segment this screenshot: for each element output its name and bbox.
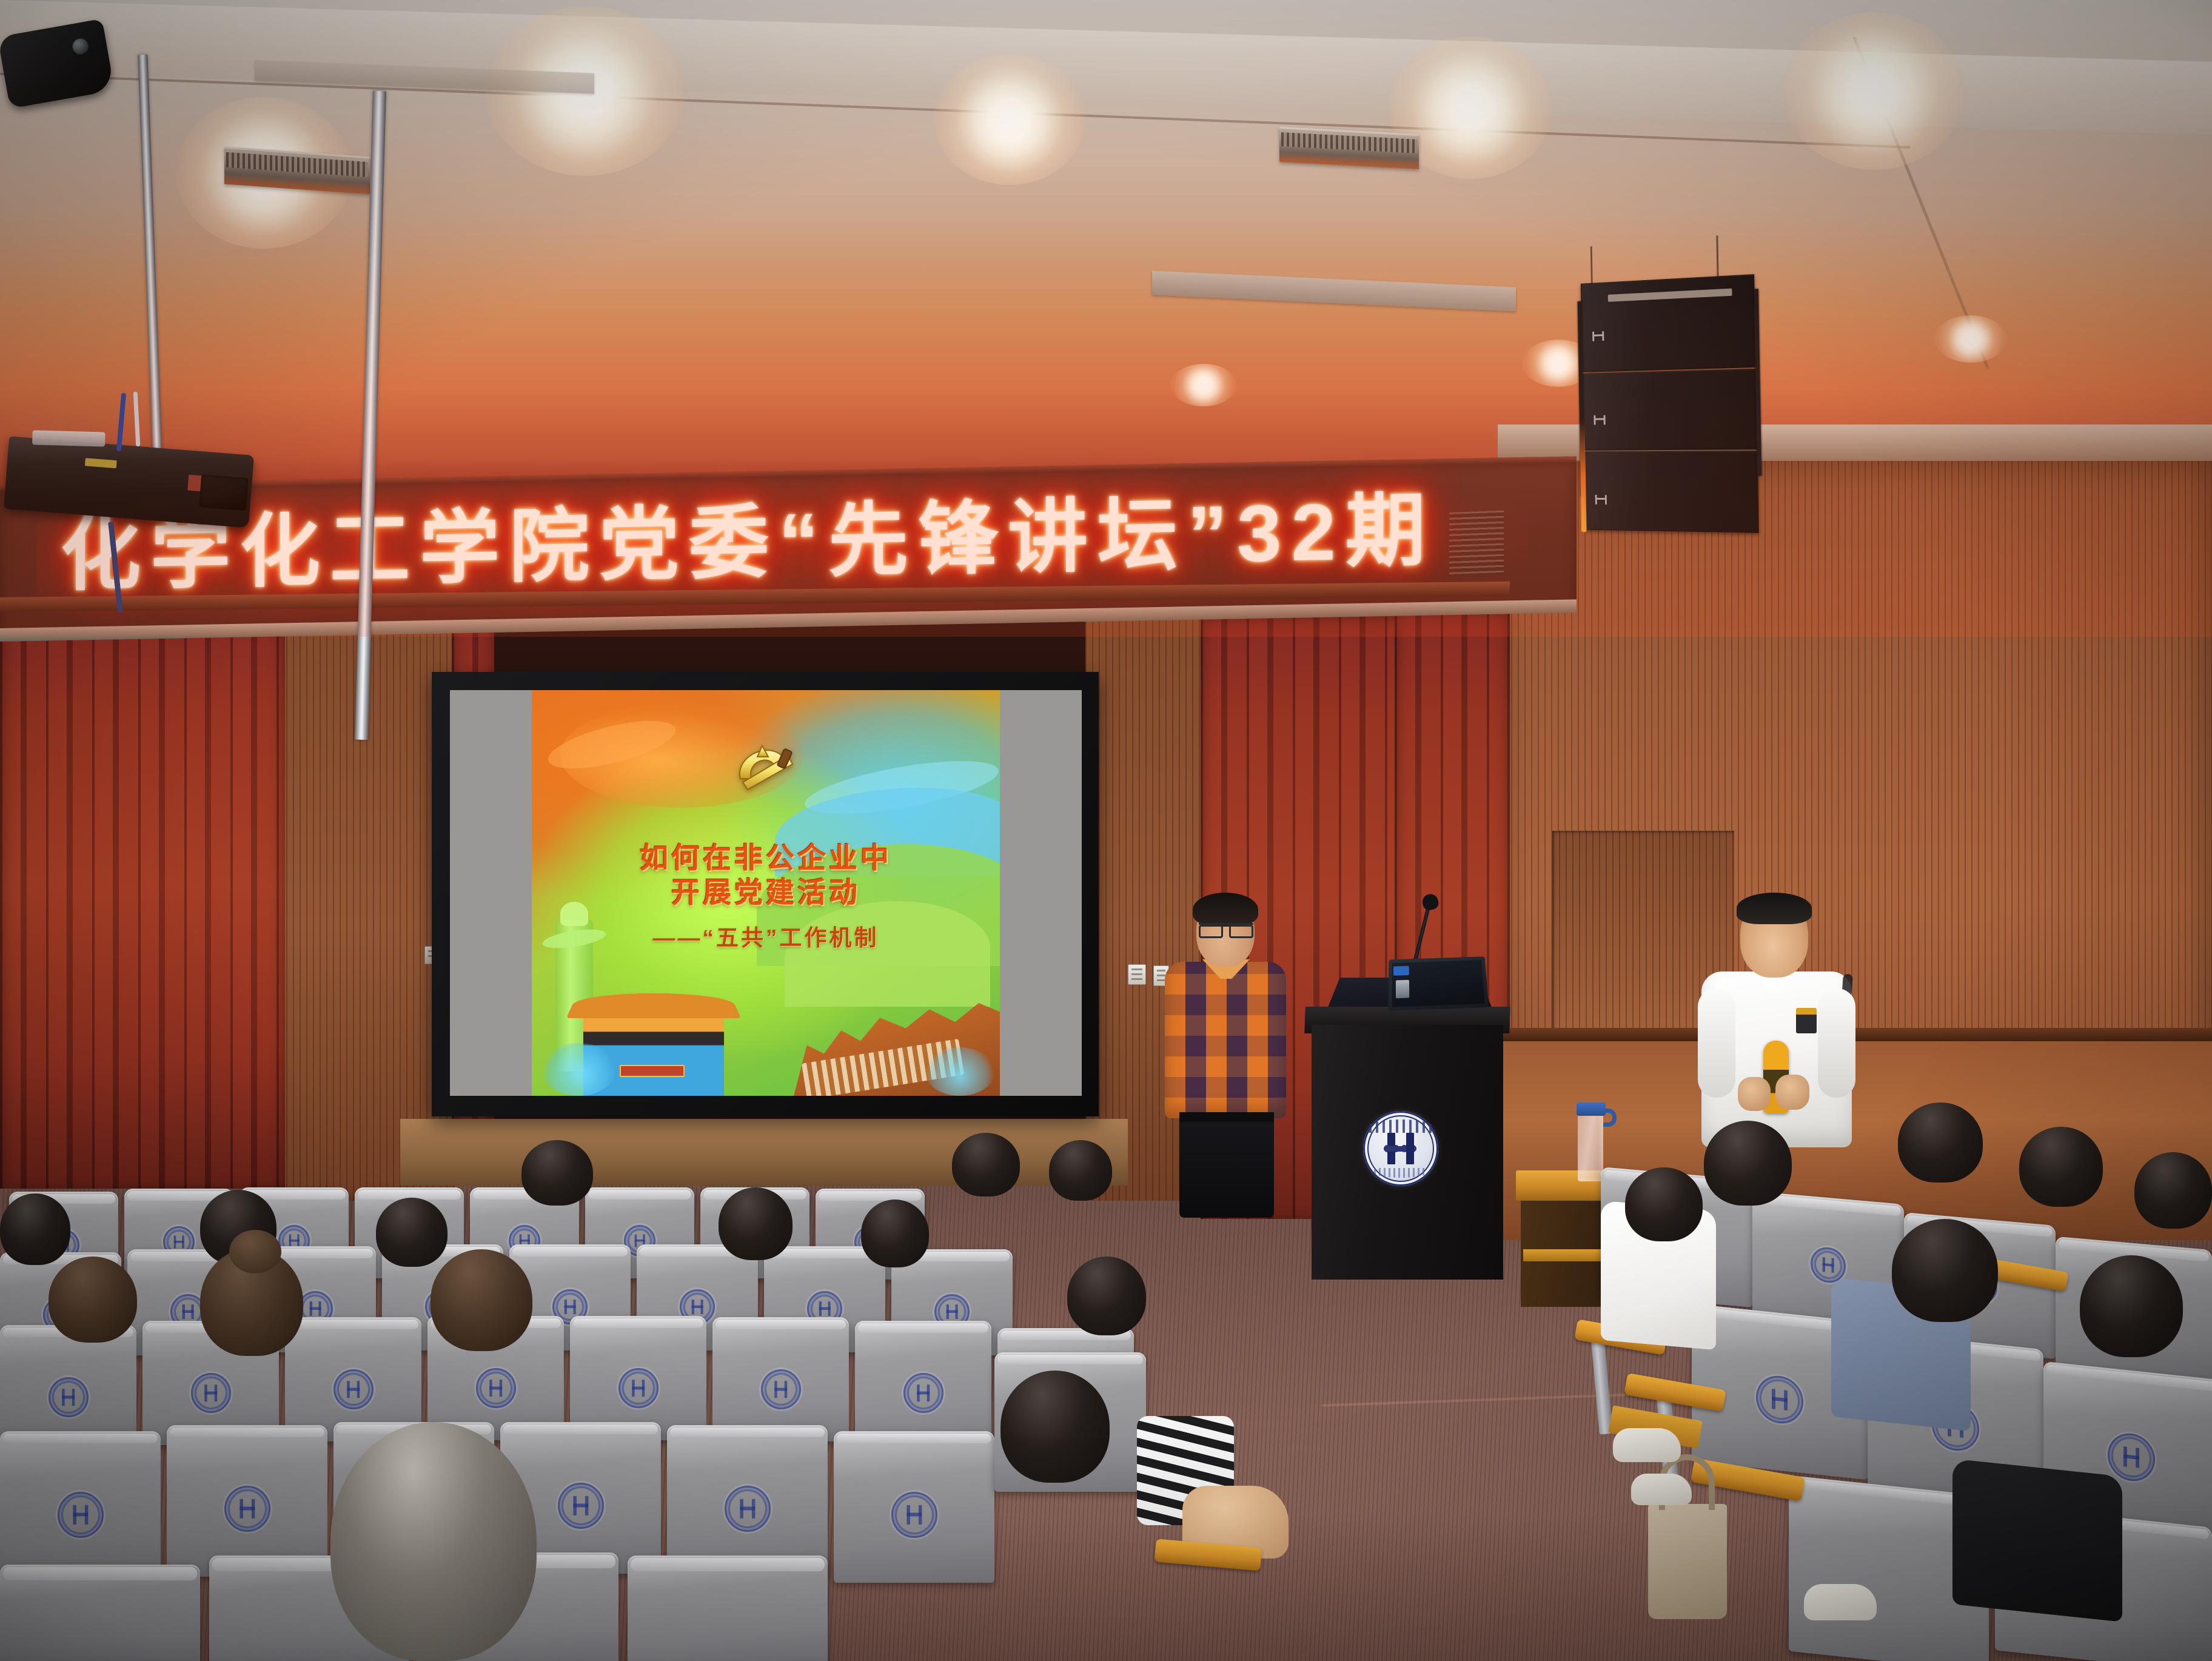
- seat[interactable]: [834, 1431, 994, 1583]
- audience-head: [521, 1140, 593, 1206]
- seat[interactable]: [167, 1425, 327, 1577]
- speaker-chest-logo-icon: [1796, 1008, 1817, 1033]
- presenter-belt: [1179, 1112, 1274, 1122]
- seat[interactable]: [0, 1565, 200, 1661]
- speaker-brand-logo-icon: [1595, 495, 1607, 505]
- speaker-module: [1584, 451, 1759, 533]
- audience-head: [1898, 1102, 1983, 1183]
- audience-head: [1892, 1219, 1998, 1322]
- presenter-plaid-shirt: [1155, 896, 1295, 1212]
- crest-arc-text-lower: [1374, 1168, 1427, 1178]
- attendee-dark-jacket: [1952, 1458, 2122, 1622]
- audience-head: [861, 1200, 929, 1267]
- ceiling-downlight: [934, 55, 1085, 185]
- handbag[interactable]: [1648, 1504, 1727, 1619]
- slide-title: 如何在非公企业中 开展党建活动: [532, 841, 999, 910]
- projection-screen-surface: 如何在非公企业中 开展党建活动 ——“五共”工作机制: [450, 690, 1082, 1096]
- speaker-hair: [1737, 893, 1812, 924]
- seat[interactable]: [0, 1431, 161, 1583]
- presenter-plaid-shirt-body: [1165, 962, 1286, 1118]
- shoe: [1613, 1428, 1681, 1462]
- speaker-port-slot: [1608, 289, 1732, 302]
- audience-head-foreground: [330, 1422, 537, 1661]
- audience-head: [952, 1133, 1020, 1196]
- presentation-slide: 如何在非公企业中 开展党建活动 ——“五共”工作机制: [532, 690, 999, 1096]
- water-bottle-cap: [1577, 1102, 1606, 1116]
- audience-head: [431, 1249, 532, 1351]
- audience-head: [1625, 1167, 1703, 1241]
- stage-curtain-left: [0, 606, 285, 1189]
- projector-lens-icon: [199, 474, 249, 511]
- laptop-badge-icon: [1393, 966, 1409, 976]
- crest-h-dots: [1384, 1144, 1418, 1153]
- audience-hair-bun: [229, 1230, 281, 1273]
- presenter-trousers: [1179, 1115, 1274, 1218]
- university-crest-icon: [1363, 1111, 1438, 1186]
- seat[interactable]: [855, 1321, 991, 1445]
- glasses-icon: [1199, 923, 1253, 933]
- audience-head: [1067, 1257, 1146, 1335]
- projector-label: [85, 458, 117, 468]
- crest-h-monogram: [1387, 1133, 1414, 1164]
- water-bottle[interactable]: [1578, 1110, 1603, 1181]
- slide-title-line1: 如何在非公企业中: [532, 841, 999, 875]
- slide-title-line2: 开展党建活动: [532, 875, 999, 910]
- ceiling-downlight: [1934, 315, 2007, 363]
- audience-head: [2080, 1255, 2183, 1357]
- speaker-left-hand: [1738, 1077, 1771, 1111]
- ceiling-downlight: [1170, 364, 1237, 406]
- slide-decoration-graphic: [925, 1047, 995, 1096]
- audience-head: [719, 1187, 793, 1260]
- line-array-speaker: [1581, 274, 1759, 535]
- light-switch-plate[interactable]: [1128, 964, 1146, 985]
- audience-head: [49, 1257, 137, 1343]
- speaker-right-hand: [1775, 1075, 1809, 1110]
- seat[interactable]: [628, 1555, 828, 1661]
- podium-laptop[interactable]: [1389, 956, 1489, 1011]
- projection-screen-frame: 如何在非公企业中 开展党建活动 ——“五共”工作机制: [432, 672, 1099, 1116]
- seat[interactable]: [667, 1425, 828, 1577]
- audience-head: [0, 1193, 70, 1265]
- audience-head: [1704, 1121, 1792, 1206]
- audience-head: [2019, 1127, 2103, 1207]
- speaker-left-arm: [1698, 988, 1735, 1098]
- crest-arc-text: [1369, 1119, 1432, 1133]
- slide-decoration-graphic: [541, 1043, 616, 1096]
- hvac-vent: [1279, 127, 1419, 169]
- speaker-brand-logo-icon: [1594, 415, 1605, 425]
- speaker-brand-logo-icon: [1592, 332, 1604, 341]
- speaker-right-arm: [1818, 988, 1855, 1098]
- laptop-side-device: [1396, 980, 1409, 998]
- audience-head: [2134, 1152, 2212, 1229]
- speaker-module: [1581, 274, 1756, 372]
- auditorium-scene: 化学化工学院党委“先锋讲坛”32期: [0, 0, 2212, 1661]
- ceiling-downlight: [1783, 12, 1965, 170]
- audience-head: [1000, 1371, 1110, 1483]
- led-banner-text: 化学化工学院党委“先锋讲坛”32期: [61, 489, 1504, 596]
- projector-bracket: [32, 430, 106, 446]
- presenter-hair: [1193, 893, 1258, 927]
- audience-head: [376, 1198, 447, 1267]
- audience-head: [1049, 1140, 1112, 1201]
- speaker-module: [1582, 369, 1757, 451]
- seat[interactable]: [712, 1317, 849, 1441]
- shoe: [1631, 1474, 1692, 1505]
- cpc-party-emblem-icon: [729, 735, 802, 791]
- shoe: [1804, 1584, 1877, 1620]
- tiananmen-plaque: [620, 1065, 684, 1077]
